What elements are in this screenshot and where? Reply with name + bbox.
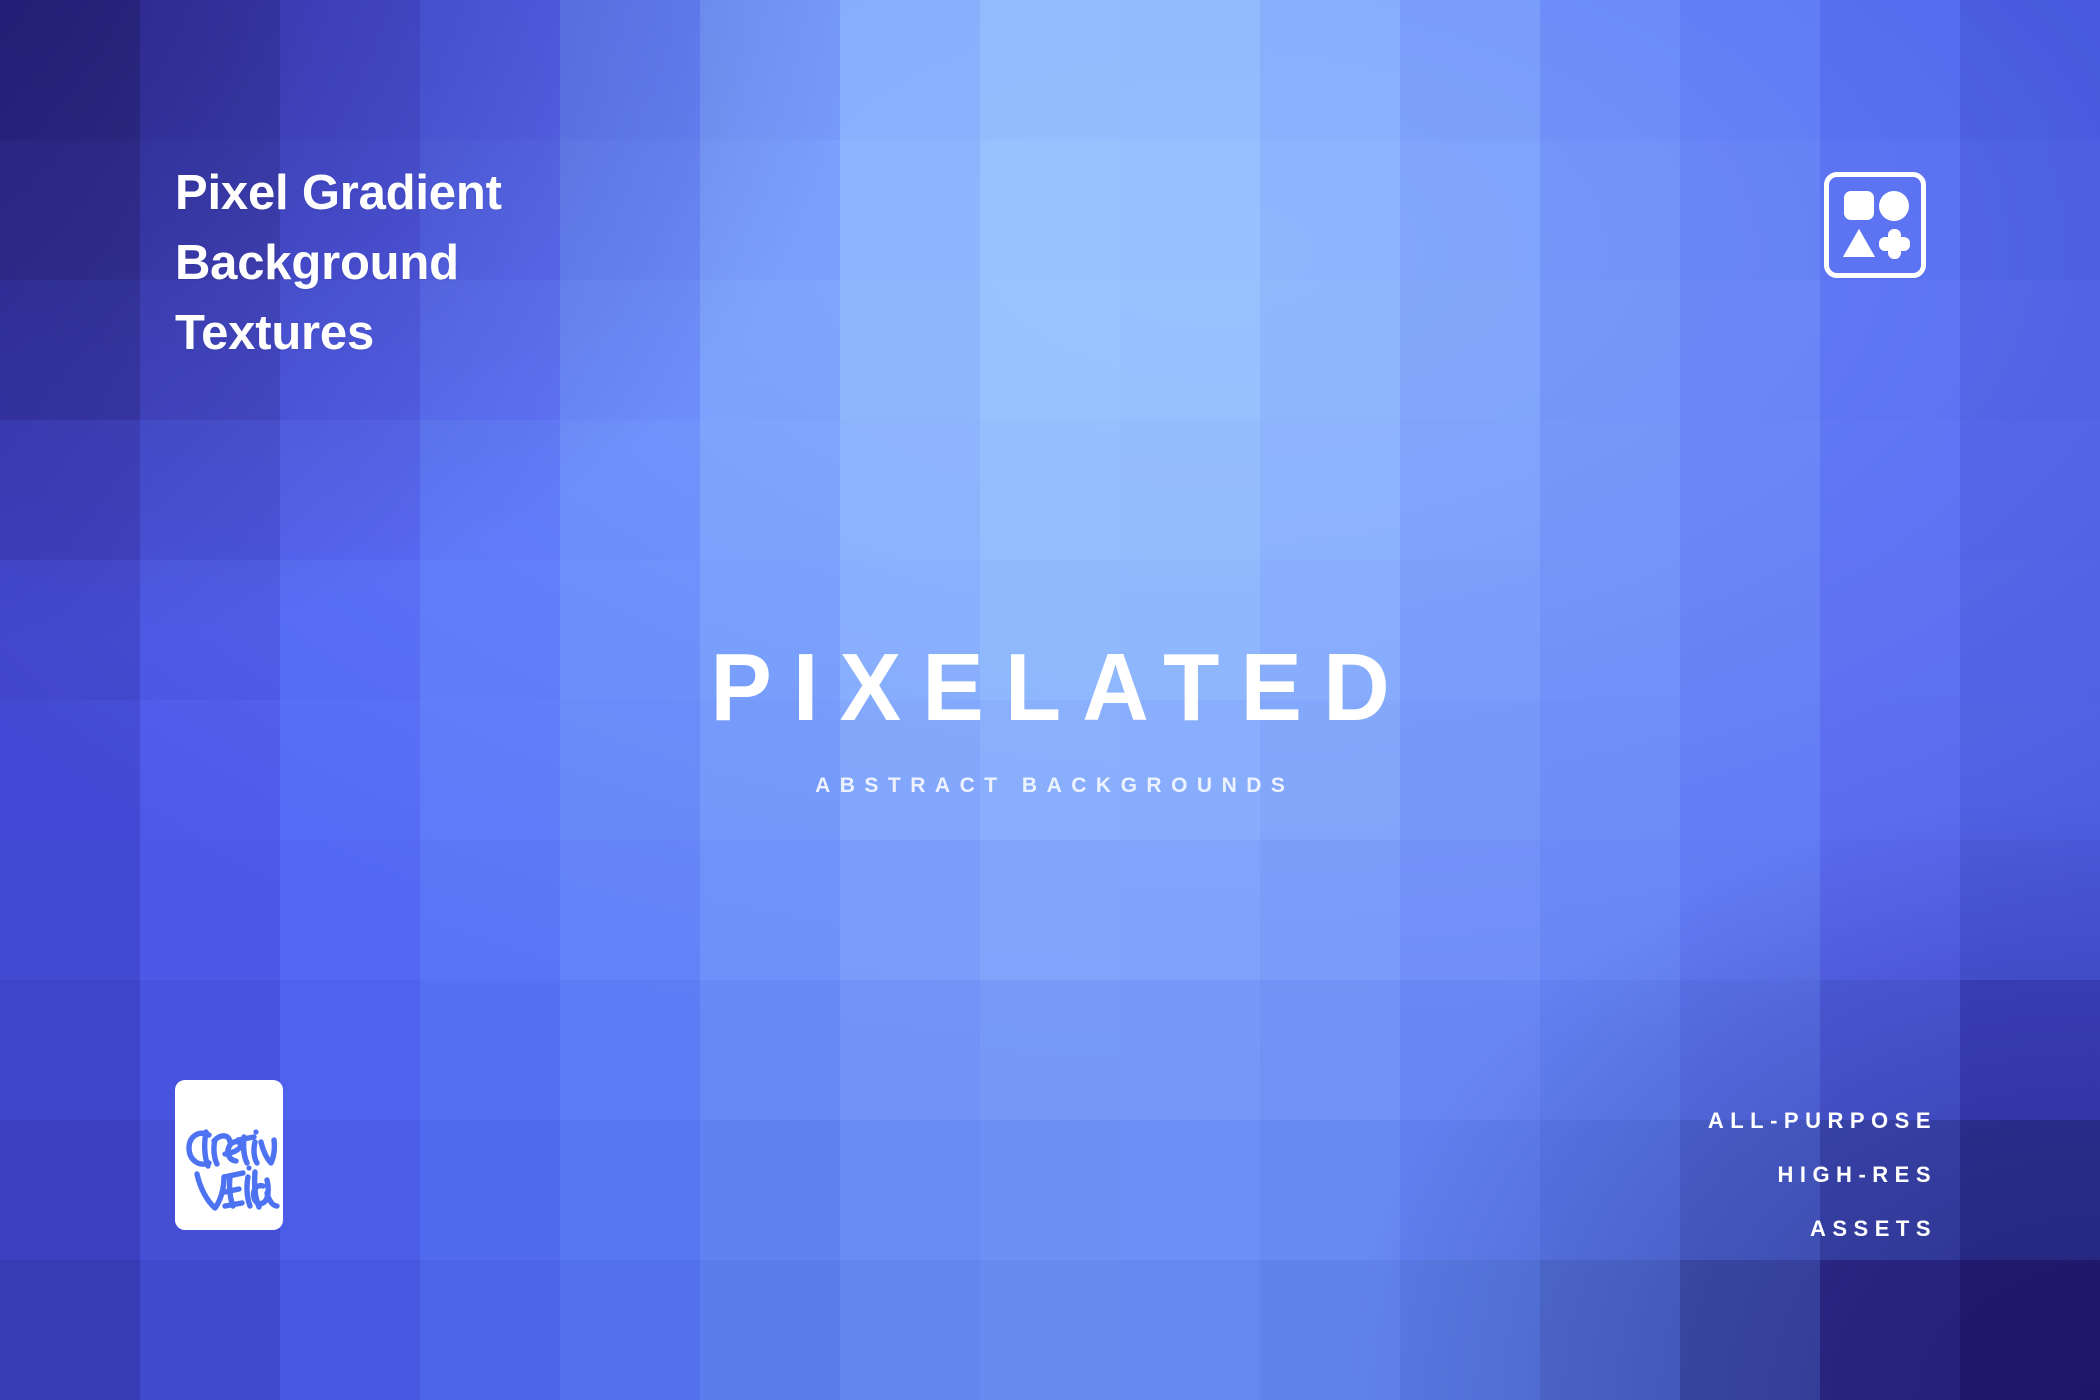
page-title-line-2: Background bbox=[175, 228, 502, 298]
tagline-line-2: HIGH-RES bbox=[1708, 1148, 1937, 1202]
shapes-icon bbox=[1824, 172, 1926, 278]
poster-canvas: Pixel Gradient Background Textures PIXEL… bbox=[0, 0, 2100, 1400]
brand-logo bbox=[175, 1080, 283, 1230]
tagline: ALL-PURPOSE HIGH-RES ASSETS bbox=[1708, 1094, 1937, 1256]
tagline-line-3: ASSETS bbox=[1708, 1202, 1937, 1256]
page-title: Pixel Gradient Background Textures bbox=[175, 158, 502, 368]
center-block: PIXELATED ABSTRACT BACKGROUNDS bbox=[0, 640, 2100, 798]
page-title-line-3: Textures bbox=[175, 298, 502, 368]
center-subtitle: ABSTRACT BACKGROUNDS bbox=[0, 774, 2100, 798]
page-title-line-1: Pixel Gradient bbox=[175, 158, 502, 228]
circle-icon bbox=[1879, 191, 1909, 221]
plus-icon bbox=[1879, 229, 1910, 259]
creative-veila-lettering-icon bbox=[175, 1080, 283, 1230]
rounded-square-icon bbox=[1844, 191, 1874, 220]
tagline-line-1: ALL-PURPOSE bbox=[1708, 1094, 1937, 1148]
center-title: PIXELATED bbox=[42, 640, 2058, 736]
triangle-icon bbox=[1843, 229, 1875, 257]
content-layer: Pixel Gradient Background Textures PIXEL… bbox=[0, 0, 2100, 1400]
